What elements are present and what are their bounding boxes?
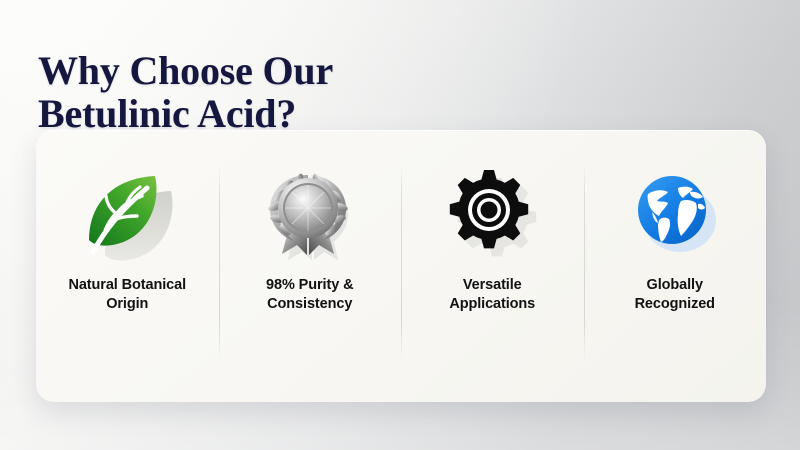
slide-canvas: Why Choose Our Betulinic Acid?: [0, 0, 800, 450]
award-medal-icon: [258, 166, 362, 262]
globe-icon: [623, 166, 727, 262]
feature-label: Natural Botanical Origin: [68, 276, 186, 314]
feature-label: Versatile Applications: [449, 276, 535, 314]
feature-label: Globally Recognized: [635, 276, 715, 314]
feature-item-98-purity-consistency[interactable]: 98% Purity & Consistency: [219, 130, 402, 402]
feature-label: 98% Purity & Consistency: [266, 276, 353, 314]
feature-item-natural-botanical-origin[interactable]: Natural Botanical Origin: [36, 130, 219, 402]
feature-item-versatile-applications[interactable]: Versatile Applications: [401, 130, 584, 402]
feature-item-globally-recognized[interactable]: Globally Recognized: [584, 130, 767, 402]
gear-icon: [440, 166, 544, 262]
leaf-icon: [75, 166, 179, 262]
page-title: Why Choose Our Betulinic Acid?: [38, 49, 333, 135]
features-panel: Natural Botanical Origin: [36, 130, 766, 402]
